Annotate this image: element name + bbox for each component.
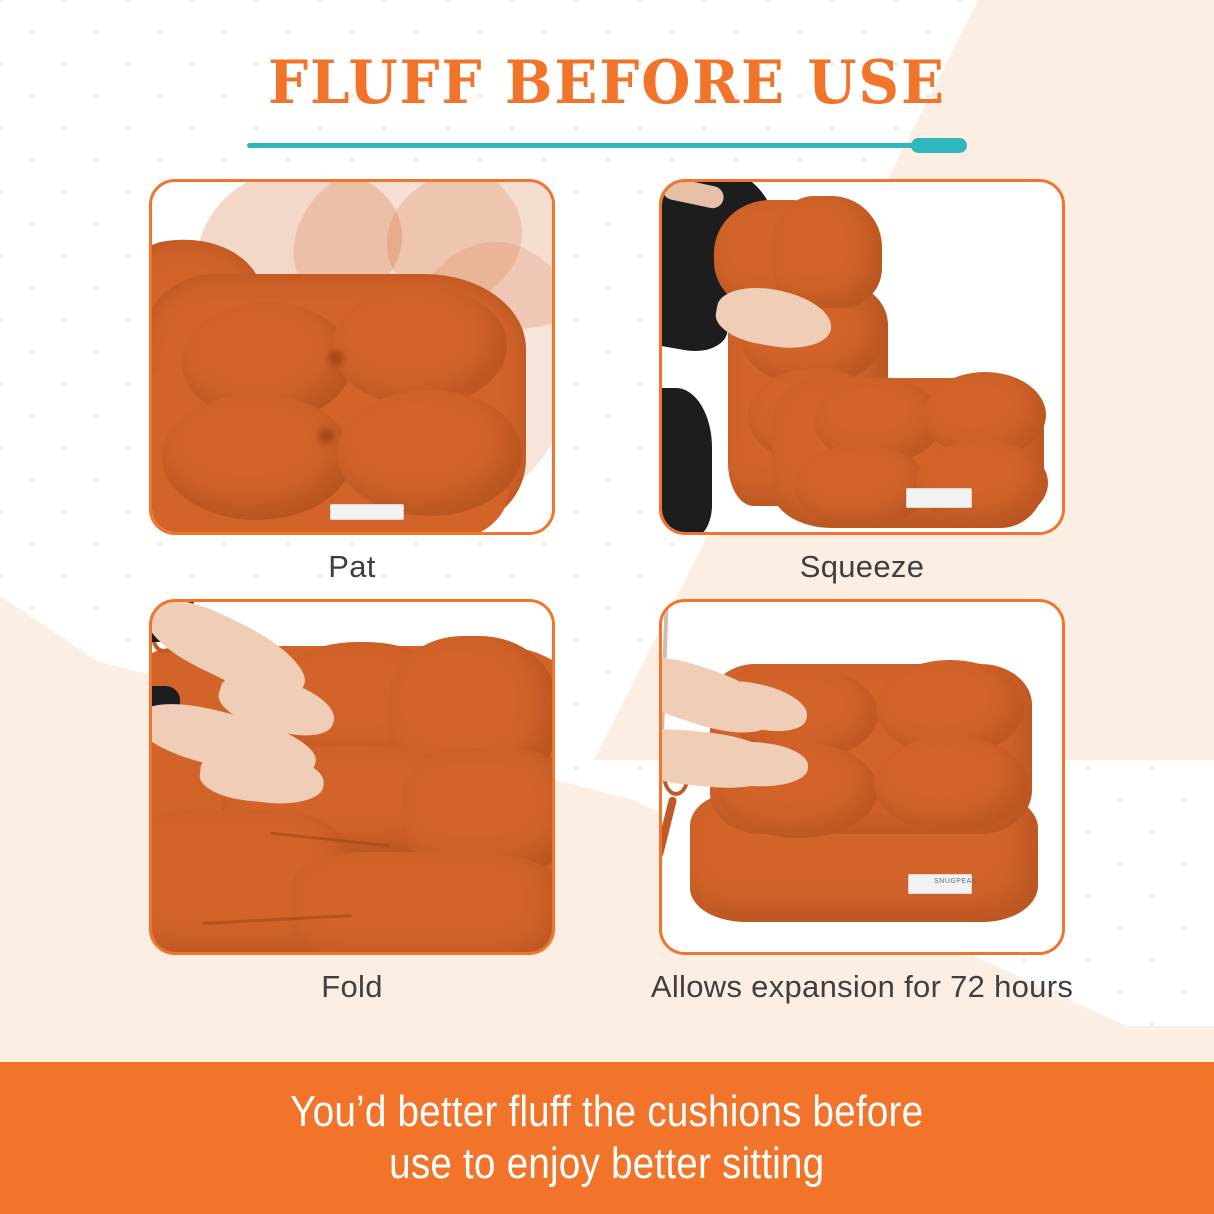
cushion-lobe (292, 852, 555, 955)
step-caption: Allows expansion for 72 hours (651, 969, 1073, 1005)
cushion-tuft-button (328, 350, 344, 366)
photo-scene-pat (152, 182, 552, 532)
divider-line (247, 143, 947, 148)
person-leg (659, 388, 712, 535)
steps-grid: Pat (152, 179, 1062, 1005)
step-squeeze-photo-card (659, 179, 1065, 535)
bottom-banner: You’d better fluff the cushions before u… (0, 1062, 1214, 1214)
step-pat: Pat (152, 179, 552, 585)
cushion-lobe (337, 390, 522, 516)
step-fold-photo-card (149, 599, 555, 955)
page-title: FLUFF BEFORE USE (36, 52, 1177, 115)
background-peach-strip (0, 1026, 1214, 1062)
cushion-lobe (794, 444, 928, 528)
product-care-label (330, 504, 404, 520)
step-caption: Squeeze (800, 549, 924, 585)
product-brand-label: SNUGPEAK (934, 878, 977, 885)
cushion-lobe (874, 736, 1028, 832)
step-pat-photo-card (149, 179, 555, 535)
step-caption: Pat (328, 549, 375, 585)
divider-end-cap (911, 138, 967, 153)
step-fold: Fold (152, 599, 552, 1005)
title-divider (247, 137, 967, 153)
step-expansion-photo-card: SNUGPEAK (659, 599, 1065, 955)
cushion-lobe (916, 440, 1048, 526)
photo-scene-expansion: SNUGPEAK (662, 602, 1062, 952)
banner-text: You’d better fluff the cushions before u… (290, 1086, 923, 1190)
banner-line-1: You’d better fluff the cushions before (290, 1087, 923, 1136)
cushion-tuft-button (318, 428, 334, 444)
cushion-tie-strap (659, 796, 677, 858)
photo-scene-squeeze (662, 182, 1062, 532)
photo-scene-fold (152, 602, 552, 952)
step-squeeze: Squeeze (662, 179, 1062, 585)
cushion-lobe (332, 286, 507, 406)
banner-line-2: use to enjoy better sitting (389, 1139, 824, 1188)
step-expansion: SNUGPEAK Allows expansion for 72 hours (662, 599, 1062, 1005)
cushion-lobe (162, 394, 352, 520)
product-care-label (906, 488, 972, 508)
header: FLUFF BEFORE USE (0, 0, 1214, 153)
infographic-page: FLUFF BEFORE USE (0, 0, 1214, 1214)
step-caption: Fold (321, 969, 383, 1005)
cushion-folded-top (772, 196, 882, 308)
